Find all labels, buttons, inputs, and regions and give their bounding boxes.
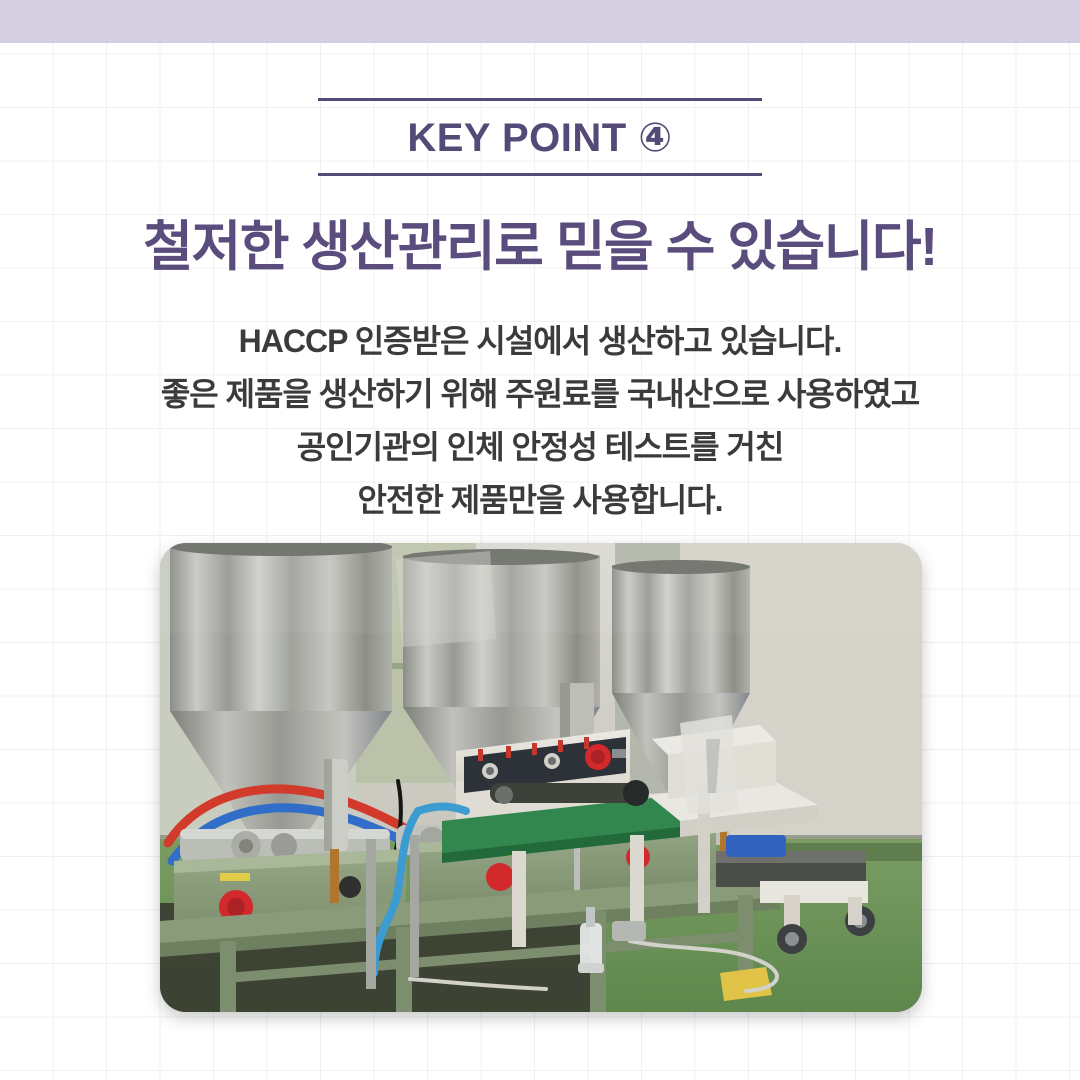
description-line: 좋은 제품을 생산하기 위해 주원료를 국내산으로 사용하였고 bbox=[0, 368, 1080, 421]
description-line: 공인기관의 인체 안정성 테스트를 거친 bbox=[0, 421, 1080, 474]
description-block: HACCP 인증받은 시설에서 생산하고 있습니다. 좋은 제품을 생산하기 위… bbox=[0, 315, 1080, 527]
key-point-header: KEY POINT ④ bbox=[318, 98, 762, 176]
description-line: HACCP 인증받은 시설에서 생산하고 있습니다. bbox=[0, 315, 1080, 368]
description-line: 안전한 제품만을 사용합니다. bbox=[0, 474, 1080, 527]
page-title: 철저한 생산관리로 믿을 수 있습니다! bbox=[0, 216, 1080, 278]
promo-page: KEY POINT ④ 철저한 생산관리로 믿을 수 있습니다! HACCP 인… bbox=[0, 0, 1080, 1080]
top-accent-bar bbox=[0, 0, 1080, 43]
key-point-label: KEY POINT ④ bbox=[318, 101, 762, 173]
header-rule-bottom bbox=[318, 173, 762, 176]
facility-photo bbox=[160, 543, 922, 1012]
facility-photo-frame bbox=[160, 543, 922, 1012]
